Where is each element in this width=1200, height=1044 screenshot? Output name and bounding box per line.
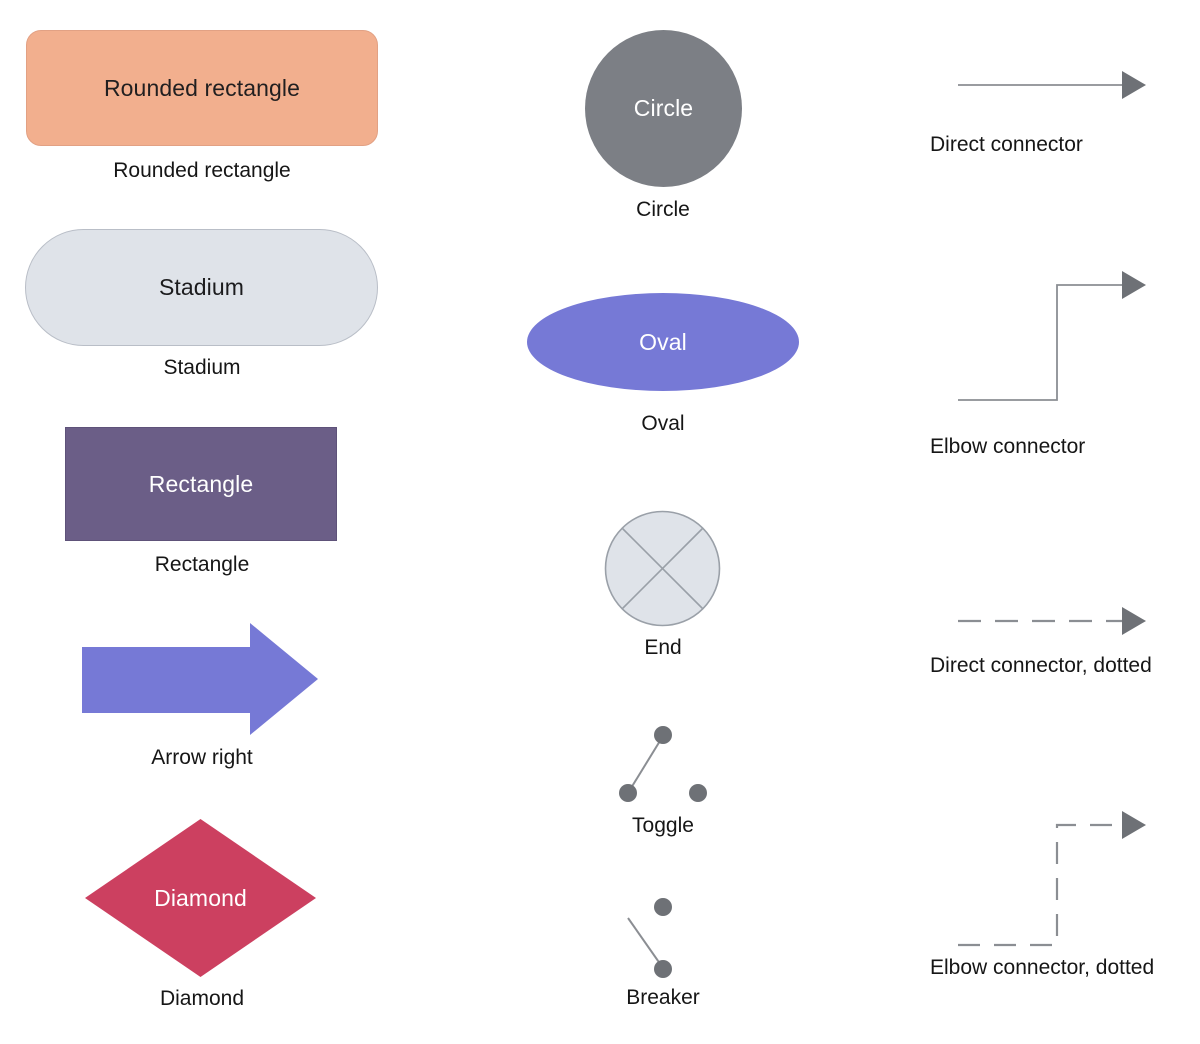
shape-inner-label: Rectangle (149, 473, 253, 496)
shape-inner-label: Circle (634, 97, 693, 120)
caption-rectangle: Rectangle (26, 552, 378, 578)
toggle-terminal-top (654, 726, 672, 744)
caption-diamond: Diamond (26, 986, 378, 1012)
elbow-connector-dotted-line (958, 825, 1122, 945)
shape-oval[interactable]: Oval (527, 293, 799, 391)
toggle-switch-icon[interactable] (612, 720, 712, 808)
direct-connector-dotted-arrowhead (1122, 607, 1146, 635)
toggle-terminal-right (689, 784, 707, 802)
breaker-lever-line (628, 918, 663, 968)
elbow-connector-dotted-icon[interactable] (950, 800, 1150, 955)
shape-rectangle[interactable]: Rectangle (65, 427, 337, 541)
shape-rounded-rectangle[interactable]: Rounded rectangle (26, 30, 378, 146)
shape-inner-label: Diamond (154, 887, 247, 910)
elbow-connector-line (958, 285, 1122, 400)
shape-arrow-right[interactable] (80, 620, 320, 738)
direct-connector-icon[interactable] (950, 60, 1150, 110)
caption-end: End (513, 635, 813, 661)
breaker-terminal-bottom (654, 960, 672, 978)
caption-direct-connector: Direct connector (930, 132, 1190, 158)
direct-connector-dotted-icon[interactable] (950, 596, 1150, 646)
caption-elbow-connector: Elbow connector (930, 434, 1190, 460)
toggle-lever-line (628, 736, 663, 793)
elbow-connector-icon[interactable] (950, 260, 1150, 410)
diagram-canvas: Rounded rectangle Rounded rectangle Stad… (0, 0, 1200, 1044)
shape-diamond-text-layer: Diamond (85, 819, 316, 977)
caption-circle: Circle (513, 197, 813, 223)
caption-oval: Oval (513, 411, 813, 437)
direct-connector-arrowhead (1122, 71, 1146, 99)
caption-arrow-right: Arrow right (26, 745, 378, 771)
toggle-terminal-left (619, 784, 637, 802)
elbow-connector-arrowhead (1122, 271, 1146, 299)
shape-inner-label: Stadium (159, 276, 244, 299)
caption-elbow-connector-dotted: Elbow connector, dotted (930, 955, 1190, 981)
elbow-connector-dotted-arrowhead (1122, 811, 1146, 839)
breaker-terminal-top (654, 898, 672, 916)
arrow-right-polygon (82, 623, 318, 735)
breaker-switch-icon[interactable] (612, 890, 712, 980)
shape-circle[interactable]: Circle (585, 30, 742, 187)
caption-stadium: Stadium (26, 355, 378, 381)
end-crossed-circle-icon[interactable] (604, 510, 721, 627)
shape-stadium[interactable]: Stadium (25, 229, 378, 346)
caption-rounded-rectangle: Rounded rectangle (26, 158, 378, 184)
shape-inner-label: Oval (639, 331, 687, 354)
caption-direct-connector-dotted: Direct connector, dotted (930, 653, 1190, 679)
shape-inner-label: Rounded rectangle (104, 77, 300, 100)
caption-breaker: Breaker (513, 985, 813, 1011)
caption-toggle: Toggle (513, 813, 813, 839)
